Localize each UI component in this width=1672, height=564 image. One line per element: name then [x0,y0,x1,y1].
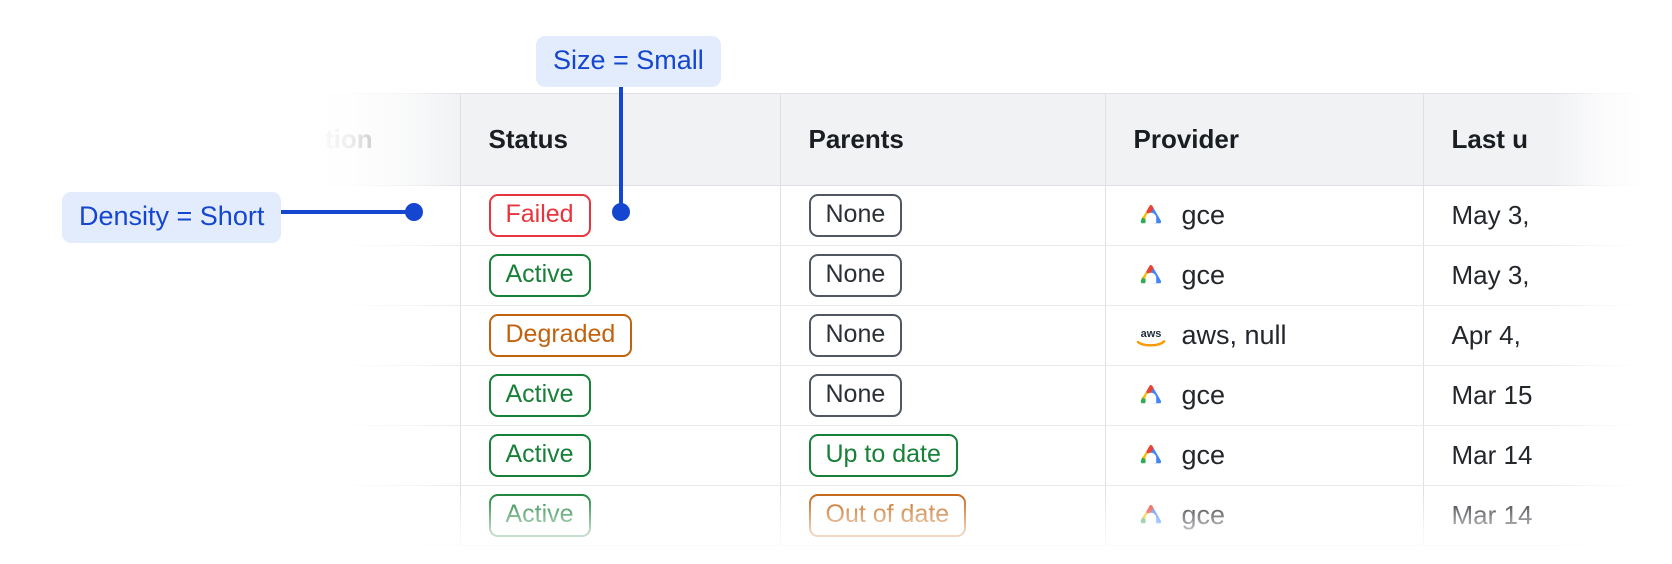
column-header-description[interactable]: tion [297,94,460,186]
cell-description [297,366,460,426]
annotation-size-label[interactable]: Size = Small [536,36,721,87]
cell-description [297,306,460,366]
cell-parents: None [780,306,1105,366]
column-header-last-updated-label: Last u [1452,124,1529,154]
cell-status: Active [460,366,780,426]
column-header-last-updated[interactable]: Last u [1423,94,1672,186]
table-row[interactable]: DegradedNoneawsaws, nullApr 4, [297,306,1672,366]
table-header: tion Status Parents Provider Last u [297,94,1672,186]
cell-last-updated: Apr 4, [1423,306,1672,366]
cell-last-updated: Mar 14 [1423,426,1672,486]
cell-provider: awsaws, null [1105,306,1423,366]
cell-last-updated: Mar 15 [1423,366,1672,426]
cell-status: Active [460,426,780,486]
cell-status: Degraded [460,306,780,366]
cell-description [297,486,460,546]
left-mask-overlay [0,0,297,564]
provider-cell: gce [1134,200,1395,231]
column-header-parents[interactable]: Parents [780,94,1105,186]
provider-cell: awsaws, null [1134,320,1395,351]
table-body: FailedNonegceMay 3,ActiveNonegceMay 3,De… [297,186,1672,546]
provider-label: gce [1182,200,1226,231]
provider-cell: gce [1134,500,1395,531]
cell-parents: Up to date [780,426,1105,486]
cell-provider: gce [1105,486,1423,546]
provider-label: aws, null [1182,320,1287,351]
provider-label: gce [1182,260,1226,291]
google-cloud-icon [1134,441,1168,471]
cell-provider: gce [1105,426,1423,486]
cell-last-updated: Mar 14 [1423,486,1672,546]
column-header-status-label: Status [489,124,568,154]
data-table: tion Status Parents Provider Last u Fail… [297,93,1672,546]
column-header-status[interactable]: Status [460,94,780,186]
table-row[interactable]: FailedNonegceMay 3, [297,186,1672,246]
column-header-provider[interactable]: Provider [1105,94,1423,186]
status-badge: Degraded [489,314,633,358]
status-badge: Failed [489,194,591,238]
table-row[interactable]: ActiveNonegceMar 15 [297,366,1672,426]
provider-label: gce [1182,440,1226,471]
google-cloud-icon [1134,501,1168,531]
provider-label: gce [1182,380,1226,411]
provider-cell: gce [1134,260,1395,291]
column-header-description-label: tion [325,124,373,154]
table-row[interactable]: ActiveOut of dategceMar 14 [297,486,1672,546]
table-row[interactable]: ActiveUp to dategceMar 14 [297,426,1672,486]
cell-status: Active [460,246,780,306]
cell-description [297,246,460,306]
cell-description [297,186,460,246]
annotation-density-label[interactable]: Density = Short [62,192,281,243]
cell-provider: gce [1105,366,1423,426]
cell-last-updated: May 3, [1423,246,1672,306]
parents-badge: None [809,314,903,358]
cell-provider: gce [1105,186,1423,246]
google-cloud-icon [1134,261,1168,291]
parents-badge: None [809,194,903,238]
table-preview-canvas: tion Status Parents Provider Last u Fail… [0,0,1672,564]
column-header-parents-label: Parents [809,124,904,154]
aws-icon: aws [1134,321,1168,351]
cell-provider: gce [1105,246,1423,306]
parents-badge: None [809,374,903,418]
status-badge: Active [489,434,591,478]
provider-label: gce [1182,500,1226,531]
parents-badge: Up to date [809,434,958,478]
provider-cell: gce [1134,380,1395,411]
table-row[interactable]: ActiveNonegceMay 3, [297,246,1672,306]
status-badge: Active [489,494,591,538]
cell-parents: None [780,366,1105,426]
cell-status: Active [460,486,780,546]
cell-parents: Out of date [780,486,1105,546]
parents-badge: Out of date [809,494,967,538]
google-cloud-icon [1134,381,1168,411]
cell-status: Failed [460,186,780,246]
column-header-provider-label: Provider [1134,124,1240,154]
data-table-viewport[interactable]: tion Status Parents Provider Last u Fail… [297,93,1672,564]
parents-badge: None [809,254,903,298]
svg-text:aws: aws [1140,328,1161,340]
status-badge: Active [489,374,591,418]
status-badge: Active [489,254,591,298]
cell-parents: None [780,186,1105,246]
google-cloud-icon [1134,201,1168,231]
cell-parents: None [780,246,1105,306]
cell-description [297,426,460,486]
provider-cell: gce [1134,440,1395,471]
cell-last-updated: May 3, [1423,186,1672,246]
table-header-row: tion Status Parents Provider Last u [297,94,1672,186]
